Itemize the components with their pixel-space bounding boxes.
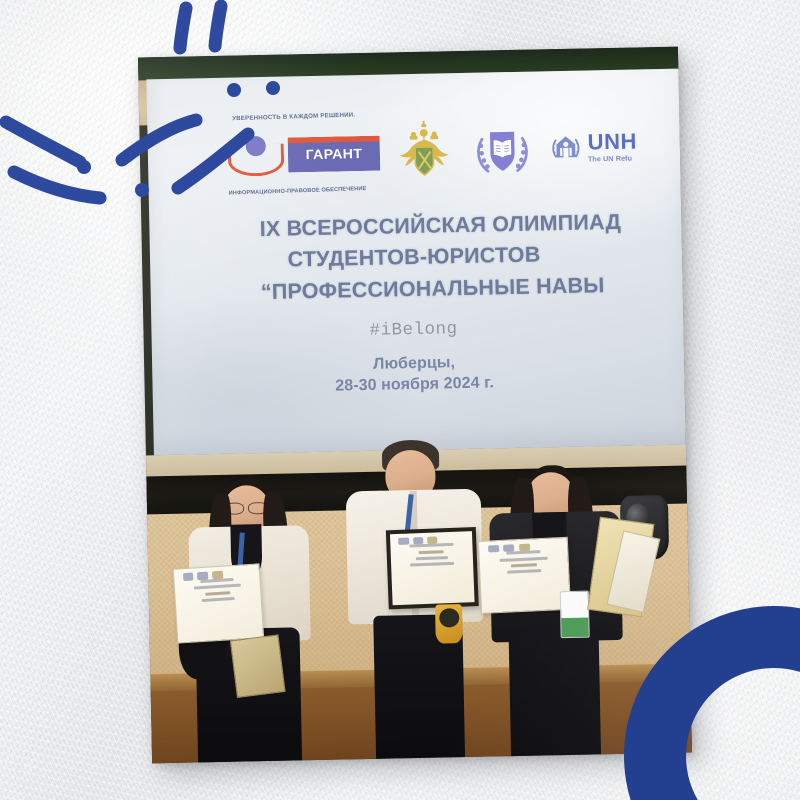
dot-2 [135,183,149,197]
unhcr-logo: UNH The UN Refu [547,113,692,180]
unhcr-text-block: UNH The UN Refu [587,132,637,164]
university-shield-icon [468,111,537,187]
decorative-strokes-group [0,0,320,230]
student-left [179,473,352,763]
poster-canvas: УВЕРЕННОСТЬ В КАЖДОМ РЕШЕНИИ. ГАРАНТ ИНФ… [0,0,800,800]
unhcr-acronym: UNH [587,132,637,154]
diploma-left [172,563,264,644]
dot-4 [266,81,280,95]
award-medal-center [435,605,463,644]
dot-1 [77,160,91,174]
arc-right-lower [178,134,248,188]
arc-right-upper [122,120,196,160]
eyeglasses-icon [225,502,269,513]
arc-left-upper [6,122,80,162]
tick-mark-2 [215,6,221,46]
name-badge-right [560,590,590,637]
diploma-right [478,537,571,614]
framed-diploma-center [386,527,479,610]
unhcr-subtitle: The UN Refu [588,154,638,164]
tick-mark-1 [180,8,186,48]
dot-3 [227,83,241,97]
unhcr-emblem-icon [547,129,584,166]
slide-hashtag: #iBelong [143,314,683,345]
double-headed-eagle-icon [391,113,457,189]
arc-left-lower [14,172,100,198]
gift-book-left [229,635,284,698]
slide-title-block: IX ВСЕРОССИЙСКАЯ ОЛИМПИАД СТУДЕНТОВ-ЮРИС… [141,205,685,400]
